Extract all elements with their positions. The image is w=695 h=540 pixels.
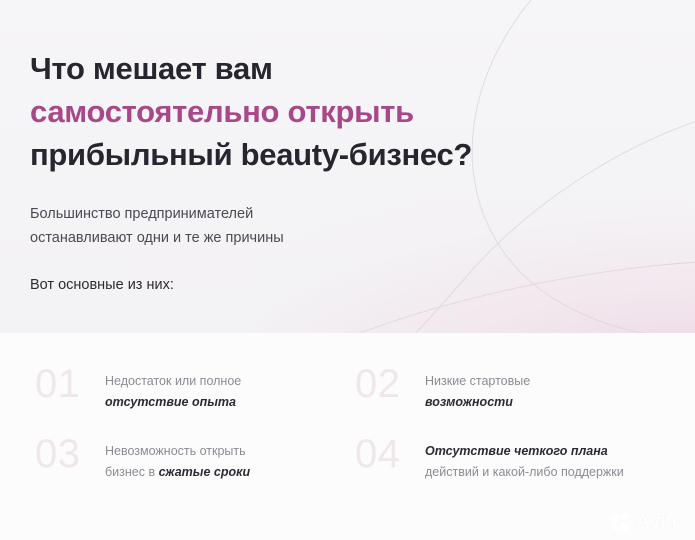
headline-line-1: Что мешает вам [30, 47, 472, 90]
reason-number: 01 [35, 361, 87, 407]
reasons-section: 01 Недостаток или полное отсутствие опыт… [0, 333, 695, 540]
reason-line-2: отсутствие опыта [105, 392, 241, 413]
reason-line-1: Недостаток или полное [105, 371, 241, 392]
reason-line-1: Невозможность открыть [105, 441, 250, 462]
reason-text: Отсутствие четкого плана действий и како… [425, 440, 624, 483]
avito-watermark-label: Avito [636, 512, 684, 532]
reason-text: Низкие стартовые возможности [425, 370, 530, 413]
reason-number: 04 [355, 431, 407, 477]
reason-line-2: бизнес в сжатые сроки [105, 462, 250, 483]
reason-item-03: 03 Невозможность открыть бизнес в сжатые… [35, 440, 355, 510]
subtitle-line-2: останавливают одни и те же причины [30, 226, 284, 250]
reason-item-04: 04 Отсутствие четкого плана действий и к… [355, 440, 695, 510]
avito-watermark: Avito [610, 512, 684, 532]
lead-in-text: Вот основные из них: [30, 275, 174, 295]
page-title: Что мешает вам самостоятельно открыть пр… [30, 47, 472, 176]
reason-item-02: 02 Низкие стартовые возможности [355, 370, 695, 440]
headline-line-2-accent: самостоятельно открыть [30, 90, 472, 133]
reason-line-1: Низкие стартовые [425, 371, 530, 392]
hero-section: Что мешает вам самостоятельно открыть пр… [0, 0, 695, 333]
reason-line-1: Отсутствие четкого плана [425, 441, 624, 462]
avito-logo-icon [610, 512, 631, 532]
reasons-grid: 01 Недостаток или полное отсутствие опыт… [0, 333, 695, 510]
promo-slide: Что мешает вам самостоятельно открыть пр… [0, 0, 695, 540]
curve-arc-3 [360, 262, 695, 333]
reason-text: Невозможность открыть бизнес в сжатые ср… [105, 440, 250, 483]
subtitle-line-1: Большинство предпринимателей [30, 202, 284, 226]
reason-emphasis: сжатые сроки [159, 465, 251, 479]
reason-emphasis: возможности [425, 395, 513, 409]
reason-line-2-prefix: бизнес в [105, 465, 159, 479]
reason-emphasis: отсутствие опыта [105, 395, 236, 409]
subtitle: Большинство предпринимателей останавлива… [30, 202, 284, 250]
reason-line-2: возможности [425, 392, 530, 413]
reason-emphasis: Отсутствие четкого плана [425, 444, 608, 458]
reason-number: 03 [35, 431, 87, 477]
headline-line-3: прибыльный beauty-бизнес? [30, 133, 472, 176]
reason-number: 02 [355, 361, 407, 407]
reason-line-2: действий и какой-либо поддержки [425, 462, 624, 483]
curve-arc-1 [472, 0, 695, 333]
reason-item-01: 01 Недостаток или полное отсутствие опыт… [35, 370, 355, 440]
reason-text: Недостаток или полное отсутствие опыта [105, 370, 241, 413]
